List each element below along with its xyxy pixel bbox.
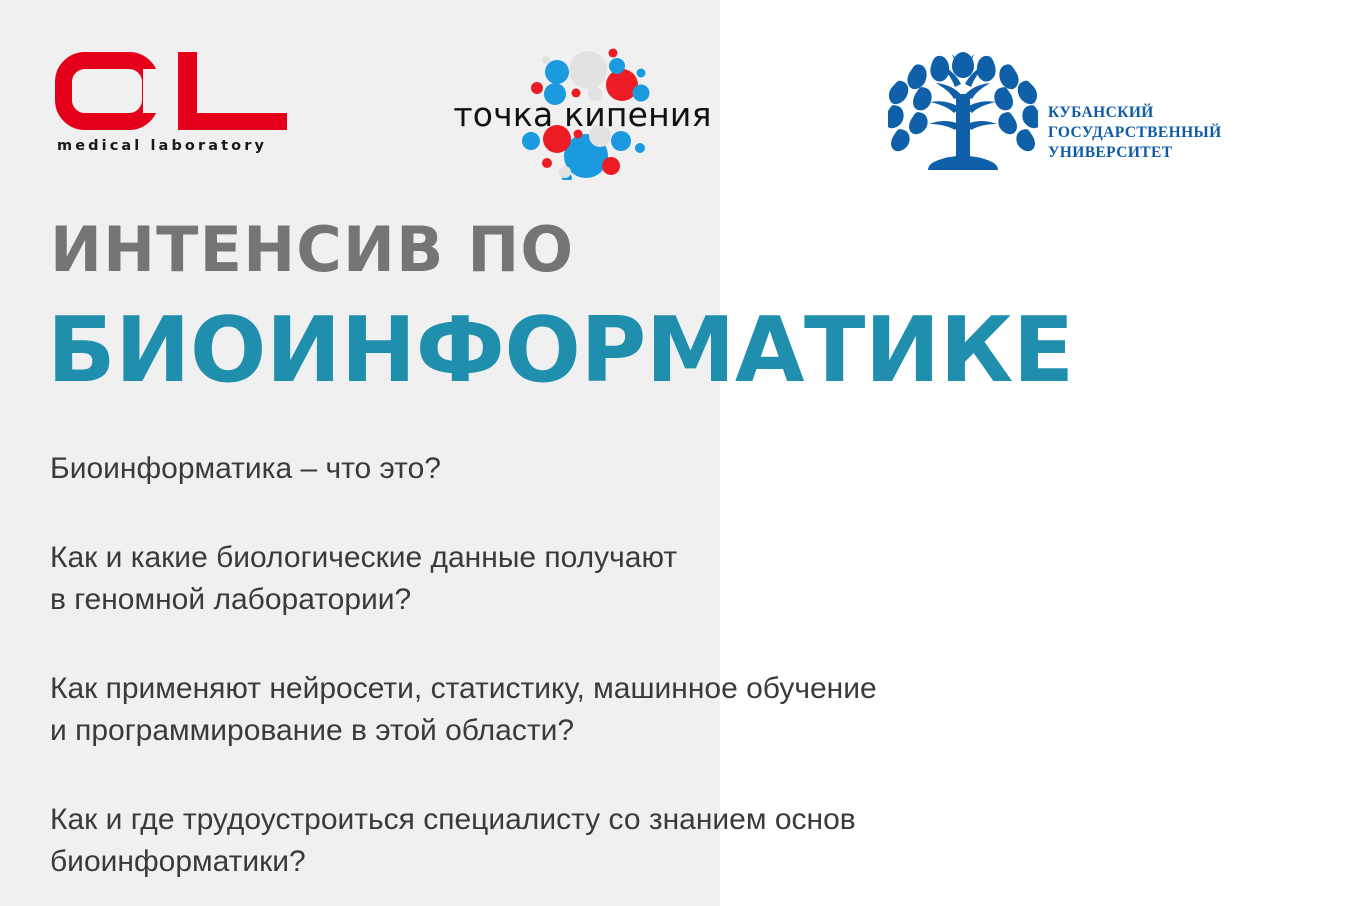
- question-item: Как и где трудоустроиться специалисту со…: [50, 799, 1320, 883]
- bioinformatics-intensive-poster: medical laboratory: [0, 0, 1353, 906]
- kicker-heading: ИНТЕНСИВ ПО: [50, 212, 574, 288]
- cl-tagline: medical laboratory: [57, 138, 267, 154]
- letter-c-gap: [143, 69, 171, 113]
- tochka-kipeniya-wordmark: точка кипения: [445, 95, 720, 134]
- kubgu-logo: КУБАНСКИЙ ГОСУДАРСТВЕННЫЙ УНИВЕРСИТЕТ: [888, 50, 1238, 178]
- kubgu-line-2: ГОСУДАРСТВЕННЫЙ: [1048, 123, 1222, 143]
- question-list: Биоинформатика – что это? Как и какие би…: [50, 448, 1320, 883]
- partner-logo-row: medical laboratory: [0, 0, 1353, 200]
- kubgu-line-3: УНИВЕРСИТЕТ: [1048, 143, 1222, 163]
- cl-medical-laboratory-logo: medical laboratory: [55, 52, 295, 167]
- question-item: Как применяют нейросети, статистику, маш…: [50, 668, 1320, 752]
- cl-monogram-icon: [55, 52, 287, 130]
- tree-icon: [888, 50, 1038, 174]
- page-title: БИОИНФОРМАТИКЕ: [47, 296, 1074, 406]
- tochka-kipeniya-logo: точка кипения: [445, 48, 720, 180]
- question-item: Биоинформатика – что это?: [50, 448, 1320, 490]
- question-item: Как и какие биологические данные получаю…: [50, 537, 1320, 621]
- kubgu-wordmark: КУБАНСКИЙ ГОСУДАРСТВЕННЫЙ УНИВЕРСИТЕТ: [1048, 103, 1222, 163]
- letter-l-foot: [178, 113, 287, 130]
- kubgu-line-1: КУБАНСКИЙ: [1048, 103, 1222, 123]
